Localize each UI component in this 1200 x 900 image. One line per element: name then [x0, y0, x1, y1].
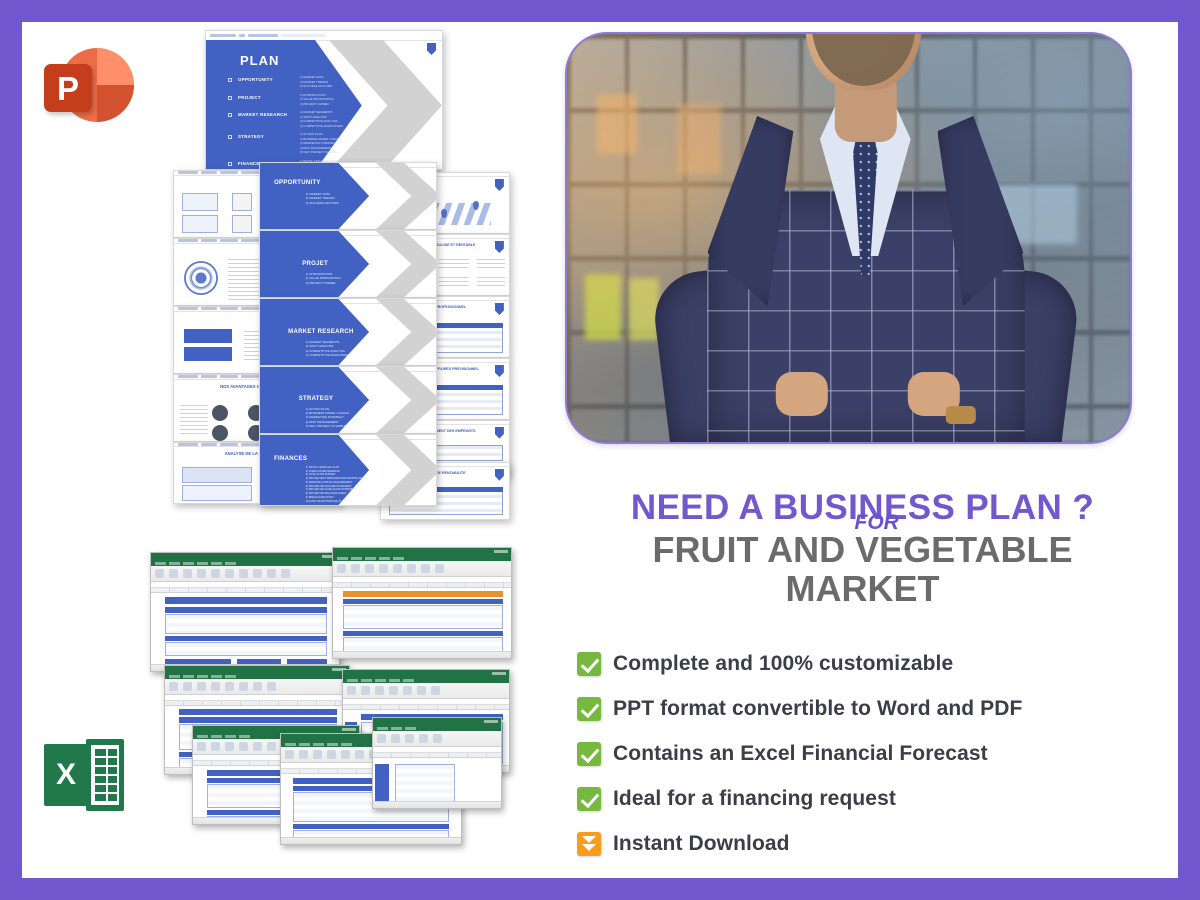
excel-ribbon — [165, 679, 349, 695]
plan-section-list: OPPORTUNITY 1) MARKET DATA 2) MARKET TRE… — [228, 75, 428, 170]
right-column: NEED A BUSINESS PLAN ? FRUIT AND VEGETAB… — [547, 22, 1178, 878]
checkbox-icon — [228, 113, 232, 117]
excel-ribbon — [333, 561, 511, 577]
plan-section-row: MARKET RESEARCH 1) MARKET SEGMENTS 2) SW… — [228, 110, 428, 128]
excel-status-bar — [333, 651, 511, 658]
excel-grid — [91, 745, 119, 805]
check-icon — [577, 652, 601, 676]
excel-sheet — [373, 758, 501, 801]
content-text-lines — [180, 405, 208, 435]
check-icon — [577, 697, 601, 721]
headline-line-3: MARKET — [547, 570, 1178, 609]
download-icon — [577, 832, 601, 856]
chevron-gray — [376, 367, 437, 433]
feature-list: Complete and 100% customizable PPT forma… — [577, 652, 1177, 877]
content-text-lines — [477, 277, 505, 289]
content-text-lines — [477, 259, 505, 271]
table-header-band — [165, 607, 327, 613]
excel-ribbon — [343, 683, 509, 699]
feature-label: Complete and 100% customizable — [613, 652, 953, 676]
excel-window — [372, 717, 502, 809]
plan-section-name: OPPORTUNITY — [238, 75, 294, 89]
shape-icon — [212, 405, 228, 421]
content-text-lines — [439, 259, 469, 271]
chevron-gray — [376, 435, 437, 505]
excel-titlebar — [193, 726, 359, 733]
checkbox-icon — [228, 135, 232, 139]
chevron-gray — [376, 299, 437, 365]
listing-inner: P X PLAN — [22, 22, 1178, 878]
excel-titlebar — [333, 548, 511, 555]
feature-item: Complete and 100% customizable — [577, 652, 1177, 676]
excel-status-bar — [373, 801, 501, 808]
excel-icon: X — [44, 739, 124, 811]
plan-section-name: PROJECT — [238, 93, 294, 107]
divider-subitems: 1) INTRODUCTION 2) VALUE PROPOSITION 3) … — [306, 272, 341, 285]
slide-divider-finances: FINANCES 1) INITIAL FINANCIAL PLAN 2) FO… — [259, 434, 437, 506]
slide-topbar — [206, 31, 442, 41]
divider-subitems: 1) INITIAL FINANCIAL PLAN 2) FORECASTED … — [306, 466, 368, 504]
businessman-figure — [655, 112, 1075, 442]
table-title-band — [343, 591, 503, 597]
table-header-band — [343, 599, 503, 604]
content-box — [184, 329, 232, 343]
slide-divider-strategy: STRATEGY 1) ACTION PLAN 2) BUSINESS MODE… — [259, 366, 437, 434]
divider-label: STRATEGY — [299, 396, 334, 402]
chevron-gray — [376, 163, 437, 229]
divider-label: MARKET RESEARCH — [288, 329, 354, 335]
divider-subitems: 1) MARKET SEGMENTS 2) SWOT ANALYSIS 3) C… — [306, 340, 351, 357]
divider-subitems: 1) ACTION PLAN 2) BUSINESS MODEL CANVAS … — [306, 407, 349, 429]
slide-divider-projet: PROJET 1) INTRODUCTION 2) VALUE PROPOSIT… — [259, 230, 437, 298]
slide-plan-title: PLAN OPPORTUNITY 1) MARKET DATA 2) MARKE… — [205, 30, 443, 170]
headline-line-2-wrapper: FRUIT AND VEGETABLE FOR — [547, 531, 1178, 570]
slide-divider-opportunity: OPPORTUNITY 1) MARKET DATA 2) MARKET TRE… — [259, 162, 437, 230]
checkbox-icon — [228, 78, 232, 82]
shape-icon — [212, 425, 228, 441]
excel-ribbon — [151, 566, 339, 582]
headline-block: NEED A BUSINESS PLAN ? FRUIT AND VEGETAB… — [547, 490, 1178, 609]
headline-superscript-for: FOR — [855, 511, 899, 535]
powerpoint-icon: P — [44, 46, 122, 124]
excel-titlebar — [165, 666, 349, 673]
table-side-band — [375, 764, 389, 802]
powerpoint-letter: P — [57, 72, 79, 105]
excel-status-bar — [281, 837, 461, 844]
table-header-band — [343, 631, 503, 636]
table-rows — [165, 642, 327, 656]
plan-section-row: STRATEGY 1) ACTION PLAN 2) BUSINESS MODE… — [228, 132, 428, 155]
checkbox-icon — [228, 96, 232, 100]
content-box — [184, 347, 232, 361]
plan-section-name: STRATEGY — [238, 132, 294, 155]
divider-label: FINANCES — [274, 456, 307, 462]
feature-item: Ideal for a financing request — [577, 787, 1177, 811]
shield-icon — [427, 43, 436, 55]
excel-titlebar — [343, 670, 509, 677]
checkbox-icon — [228, 162, 232, 166]
content-box — [182, 467, 252, 483]
table-title-band — [179, 709, 337, 715]
divider-label: OPPORTUNITY — [274, 180, 321, 186]
headline-line-2: FRUIT AND VEGETABLE — [547, 531, 1178, 570]
slide-divider-market-research: MARKET RESEARCH 1) MARKET SEGMENTS 2) SW… — [259, 298, 437, 366]
feature-label: Ideal for a financing request — [613, 787, 896, 811]
excel-letter-block: X — [44, 744, 88, 806]
excel-titlebar — [373, 718, 501, 725]
powerpoint-slide-stack: PLAN OPPORTUNITY 1) MARKET DATA 2) MARKE… — [137, 22, 507, 522]
feature-label: Instant Download — [613, 832, 790, 856]
table-rows — [395, 764, 455, 802]
excel-sheet — [333, 588, 511, 651]
check-icon — [577, 742, 601, 766]
target-icon — [184, 261, 218, 295]
plan-section-items: 1) ACTION PLAN 2) BUSINESS MODEL CANVAS … — [300, 132, 341, 155]
content-box — [232, 215, 252, 233]
excel-window — [150, 552, 340, 672]
feature-item: Contains an Excel Financial Forecast — [577, 742, 1177, 766]
table-rows — [165, 614, 327, 634]
plan-section-name: MARKET RESEARCH — [238, 110, 294, 128]
content-box — [182, 193, 218, 211]
excel-screenshot-stack — [132, 517, 512, 847]
chevron-gray — [376, 231, 437, 297]
divider-subitems: 1) MARKET DATA 2) MARKET TRENDS 3) SUCCE… — [306, 192, 339, 205]
check-icon — [577, 787, 601, 811]
table-header-band — [179, 717, 337, 723]
plan-section-items: 1) MARKET SEGMENTS 2) SWOT ANALYSIS 3) C… — [300, 110, 343, 128]
listing-canvas: P X PLAN — [0, 0, 1200, 900]
feature-item: Instant Download — [577, 832, 1177, 856]
wristwatch — [945, 406, 975, 424]
table-title-band — [165, 597, 327, 604]
businessman-photo — [565, 32, 1132, 444]
excel-letter: X — [56, 758, 76, 792]
feature-item: PPT format convertible to Word and PDF — [577, 697, 1177, 721]
feature-label: Contains an Excel Financial Forecast — [613, 742, 988, 766]
content-box — [182, 485, 252, 501]
left-hand — [775, 372, 827, 416]
slide-heading: PLAN — [240, 53, 279, 68]
excel-window — [332, 547, 512, 659]
excel-sheet — [151, 593, 339, 664]
feature-label: PPT format convertible to Word and PDF — [613, 697, 1022, 721]
plan-section-items: 1) MARKET DATA 2) MARKET TRENDS 3) SUCCE… — [300, 75, 332, 89]
content-box — [232, 193, 252, 211]
plan-section-items: 1) INTRODUCTION 2) VALUE PROPOSITION 3) … — [300, 93, 334, 107]
content-text-lines — [439, 277, 469, 289]
excel-titlebar — [151, 553, 339, 560]
powerpoint-tile: P — [44, 64, 92, 112]
excel-grid-block — [86, 739, 124, 811]
content-box — [182, 215, 218, 233]
plan-section-row: PROJECT 1) INTRODUCTION 2) VALUE PROPOSI… — [228, 93, 428, 107]
plan-section-row: OPPORTUNITY 1) MARKET DATA 2) MARKET TRE… — [228, 75, 428, 89]
excel-ribbon — [373, 731, 501, 747]
table-header-band — [293, 824, 449, 829]
divider-label: PROJET — [302, 261, 328, 267]
table-rows — [343, 605, 503, 629]
table-header-band — [165, 636, 327, 641]
